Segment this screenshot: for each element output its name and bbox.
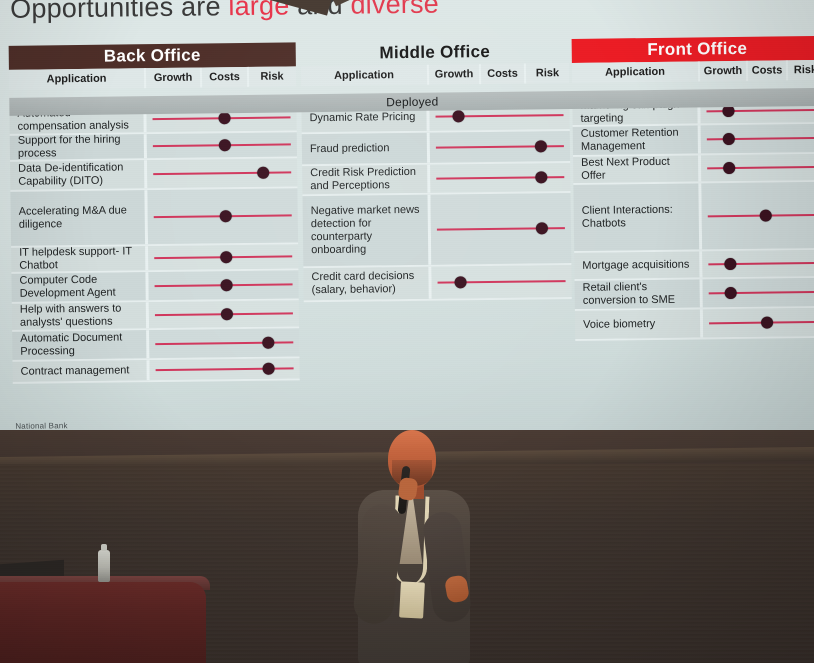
- opportunities-table: Back Office Application Growth Costs Ris…: [9, 36, 814, 384]
- slider-track: [153, 171, 291, 175]
- slider-track: [708, 262, 814, 265]
- table-row: Automatic Document Processing: [12, 328, 299, 362]
- application-name-cell: Credit card decisions (salary, behavior): [303, 267, 431, 301]
- rating-slider[interactable]: [147, 188, 298, 244]
- slider-track: [437, 227, 565, 231]
- application-name-cell: Support for the hiring process: [10, 134, 147, 160]
- header-growth: Growth: [700, 61, 748, 82]
- rating-slider[interactable]: [149, 300, 299, 328]
- header-application: Application: [9, 68, 146, 90]
- application-name-cell: Contract management: [12, 360, 149, 382]
- slider-knob[interactable]: [536, 222, 548, 234]
- lectern: [0, 582, 206, 663]
- application-name-cell: Computer Code Development Agent: [11, 272, 148, 302]
- back-office-rows: Automated compensation analysisSupport f…: [9, 104, 299, 383]
- rating-slider[interactable]: [148, 244, 298, 270]
- header-costs: Costs: [748, 60, 788, 80]
- slider-knob[interactable]: [219, 210, 231, 222]
- table-row: Mortgage acquisitions: [574, 250, 814, 281]
- middle-office-subheader: Application Growth Costs Risk: [301, 63, 569, 86]
- front-office-rows: Marketing campaign targetingCustomer Ret…: [572, 98, 814, 341]
- slider-track: [153, 116, 291, 120]
- slider-track: [436, 114, 564, 118]
- slider-knob[interactable]: [262, 337, 274, 349]
- slider-track: [436, 145, 564, 149]
- table-row: Help with answers to analysts' questions: [12, 300, 299, 332]
- slider-knob[interactable]: [220, 279, 232, 291]
- application-name-cell: IT helpdesk support- IT Chatbot: [11, 246, 148, 272]
- application-name-cell: Voice biometry: [575, 309, 703, 339]
- rating-slider[interactable]: [147, 132, 297, 158]
- application-name-cell: Retail client's conversion to SME: [575, 279, 703, 309]
- table-row: Contract management: [12, 358, 299, 384]
- rating-slider[interactable]: [431, 265, 571, 299]
- rating-slider[interactable]: [149, 328, 299, 358]
- slider-knob[interactable]: [258, 167, 270, 179]
- slider-knob[interactable]: [723, 133, 735, 145]
- rating-slider[interactable]: [149, 358, 299, 380]
- table-row: Credit Risk Prediction and Perceptions: [302, 163, 570, 196]
- table-row: IT helpdesk support- IT Chatbot: [11, 244, 298, 274]
- application-name-cell: Data De-identification Capability (DITO): [10, 160, 147, 190]
- column-middle-office: Middle Office Application Growth Costs R…: [301, 39, 573, 380]
- application-name-cell: Negative market news detection for count…: [302, 195, 431, 267]
- presenter-badge: [399, 581, 425, 618]
- slider-track: [706, 109, 814, 112]
- slider-knob[interactable]: [535, 171, 547, 183]
- slider-knob[interactable]: [220, 251, 232, 263]
- header-growth: Growth: [429, 64, 481, 85]
- application-name-cell: Customer Retention Management: [573, 125, 701, 155]
- rating-slider[interactable]: [147, 158, 297, 188]
- application-name-cell: Best Next Product Offer: [573, 155, 701, 183]
- slider-track: [155, 283, 293, 287]
- rating-slider[interactable]: [148, 270, 298, 300]
- conference-photo: Opportunities are large and diverse Back…: [0, 0, 814, 663]
- front-office-subheader: Application Growth Costs Risk: [572, 60, 814, 83]
- back-office-subheader: Application Growth Costs Risk: [9, 66, 296, 90]
- table-row: Accelerating M&A due diligence: [10, 188, 298, 248]
- table-row: Negative market news detection for count…: [302, 193, 571, 268]
- application-name-cell: Accelerating M&A due diligence: [10, 190, 148, 246]
- application-name-cell: Help with answers to analysts' questions: [12, 302, 149, 330]
- header-application: Application: [572, 61, 700, 83]
- table-row: Support for the hiring process: [10, 132, 297, 162]
- application-name-cell: Mortgage acquisitions: [574, 251, 702, 279]
- application-name-cell: Automatic Document Processing: [12, 330, 149, 360]
- slider-track: [156, 367, 294, 371]
- slider-track: [438, 280, 566, 284]
- table-row: Data De-identification Capability (DITO): [10, 158, 297, 192]
- slide-title: Opportunities are large and diverse: [10, 0, 439, 26]
- rating-slider[interactable]: [703, 278, 814, 308]
- middle-office-header: Middle Office: [301, 39, 569, 66]
- table-row: Fraud prediction: [302, 131, 570, 166]
- rating-slider[interactable]: [701, 182, 814, 249]
- rating-slider[interactable]: [703, 308, 814, 338]
- auditorium-stage: [0, 430, 814, 663]
- header-risk: Risk: [249, 66, 295, 87]
- header-risk: Risk: [788, 60, 814, 80]
- slide-title-large: large: [228, 0, 289, 21]
- slider-knob[interactable]: [219, 139, 231, 151]
- application-name-cell: Credit Risk Prediction and Perceptions: [302, 165, 430, 195]
- rating-slider[interactable]: [701, 154, 814, 182]
- slider-track: [155, 312, 293, 316]
- application-name-cell: Fraud prediction: [302, 133, 430, 165]
- slider-track: [154, 214, 292, 218]
- slider-knob[interactable]: [221, 308, 233, 320]
- column-back-office: Back Office Application Growth Costs Ris…: [9, 42, 300, 383]
- table-row: Computer Code Development Agent: [11, 270, 298, 304]
- slider-knob[interactable]: [724, 258, 736, 270]
- slider-track: [707, 137, 814, 140]
- application-name-cell: Client Interactions: Chatbots: [573, 183, 702, 251]
- header-risk: Risk: [526, 63, 569, 84]
- rating-slider[interactable]: [701, 124, 814, 154]
- rating-slider[interactable]: [430, 163, 570, 193]
- slider-track: [707, 166, 814, 169]
- slider-track: [708, 214, 814, 217]
- rating-slider[interactable]: [430, 131, 570, 163]
- header-costs: Costs: [202, 67, 249, 88]
- rating-slider[interactable]: [430, 193, 571, 265]
- table-row: Voice biometry: [575, 308, 814, 341]
- front-office-header: Front Office: [572, 36, 814, 63]
- slider-knob[interactable]: [535, 140, 547, 152]
- slider-knob[interactable]: [723, 162, 735, 174]
- rating-slider[interactable]: [702, 250, 814, 278]
- slide-title-part1: Opportunities are: [10, 0, 229, 24]
- table-row: Customer Retention Management: [573, 124, 814, 157]
- table-row: Client Interactions: Chatbots: [573, 182, 814, 253]
- header-costs: Costs: [481, 64, 526, 85]
- slider-knob[interactable]: [218, 112, 230, 124]
- slide-title-diverse: diverse: [350, 0, 439, 20]
- table-row: Best Next Product Offer: [573, 154, 814, 185]
- slider-track: [709, 291, 814, 294]
- table-row: Credit card decisions (salary, behavior): [303, 265, 571, 302]
- presenter: [352, 430, 482, 663]
- slider-knob[interactable]: [452, 110, 464, 122]
- water-bottle: [98, 550, 110, 582]
- slider-track: [154, 255, 292, 259]
- slider-track: [155, 341, 293, 345]
- header-application: Application: [301, 65, 429, 87]
- slider-knob[interactable]: [725, 287, 737, 299]
- header-growth: Growth: [146, 67, 202, 88]
- slider-track: [153, 143, 291, 147]
- back-office-header: Back Office: [9, 42, 296, 70]
- table-row: Retail client's conversion to SME: [575, 278, 814, 311]
- column-front-office: Front Office Application Growth Costs Ri…: [572, 36, 814, 377]
- slider-knob[interactable]: [759, 210, 771, 222]
- office-columns: Back Office Application Growth Costs Ris…: [9, 36, 814, 384]
- slider-knob[interactable]: [263, 363, 275, 375]
- slider-track: [436, 176, 564, 180]
- middle-office-rows: Dynamic Rate PricingFraud predictionCred…: [301, 101, 571, 302]
- slider-track: [709, 321, 814, 324]
- slider-knob[interactable]: [455, 276, 467, 288]
- slider-knob[interactable]: [761, 317, 773, 329]
- projection-screen: Opportunities are large and diverse Back…: [0, 0, 814, 446]
